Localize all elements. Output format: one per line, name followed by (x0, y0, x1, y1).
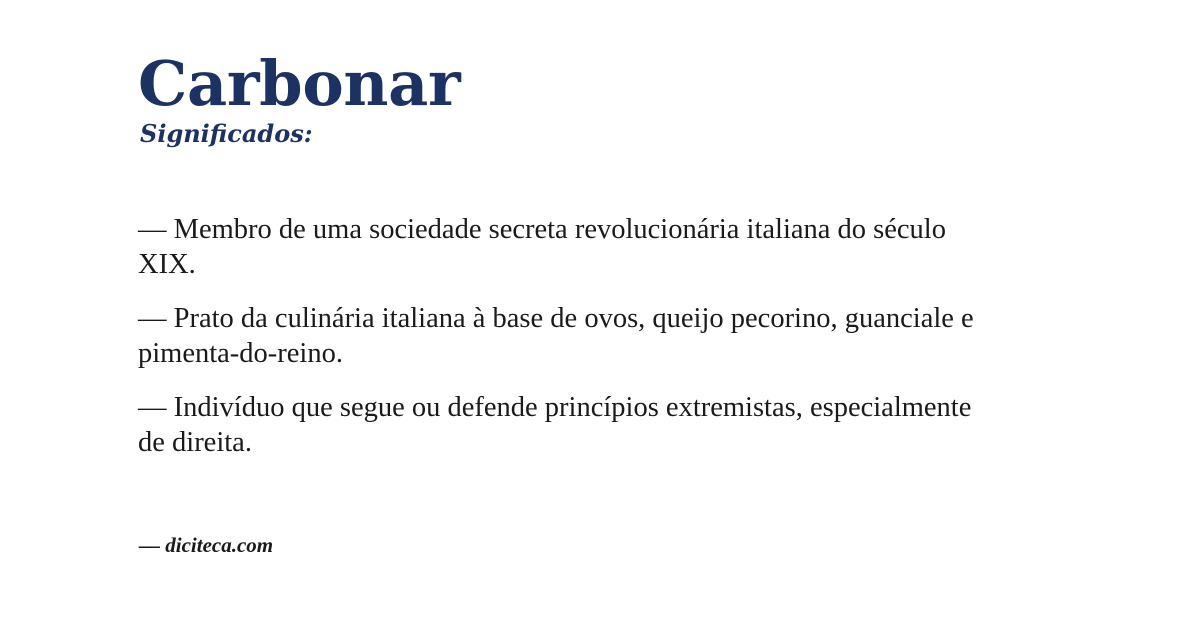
list-item: — Membro de uma sociedade secreta revolu… (138, 212, 1000, 282)
footer-dash: — (139, 533, 160, 557)
entry-header: Carbonar Significados: (138, 52, 998, 148)
em-dash-marker: — (138, 392, 167, 423)
definition-text: Prato da culinária italiana à base de ov… (138, 303, 974, 369)
definition-text: Indivíduo que segue ou defende princípio… (138, 392, 971, 458)
list-item: — Indivíduo que segue ou defende princíp… (138, 390, 1000, 460)
em-dash-marker: — (138, 214, 167, 245)
dictionary-entry-card: Carbonar Significados: — Membro de uma s… (0, 0, 1200, 628)
source-name: diciteca.com (165, 533, 273, 557)
list-item: — Prato da culinária italiana à base de … (138, 301, 1000, 371)
source-attribution: — diciteca.com (139, 533, 273, 558)
meanings-label: Significados: (140, 121, 998, 147)
em-dash-marker: — (138, 303, 167, 334)
definition-text: Membro de uma sociedade secreta revoluci… (138, 214, 946, 280)
page-title: Carbonar (138, 52, 998, 115)
definition-list: — Membro de uma sociedade secreta revolu… (138, 212, 1000, 460)
